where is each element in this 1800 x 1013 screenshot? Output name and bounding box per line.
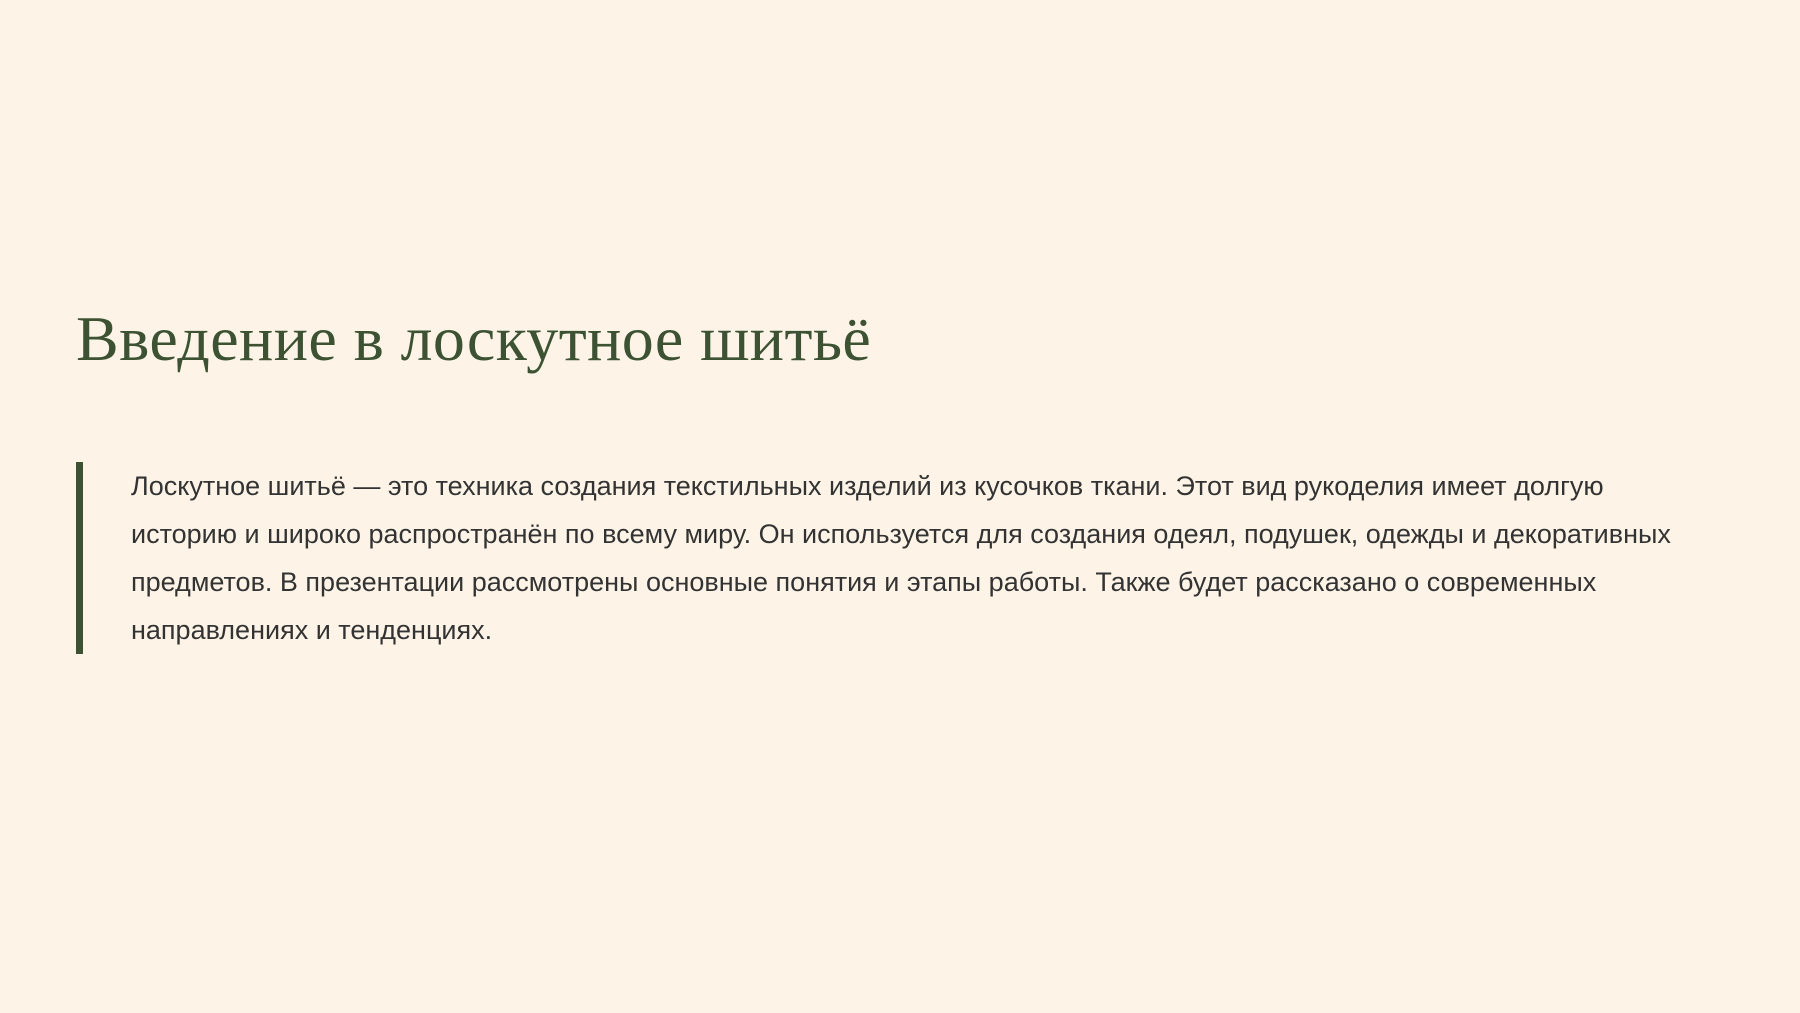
body-quote-block: Лоскутное шитьё — это техника создания т… <box>76 462 1716 654</box>
page-title: Введение в лоскутное шитьё <box>76 300 1716 378</box>
slide-canvas: Введение в лоскутное шитьё Лоскутное шит… <box>0 0 1800 1013</box>
body-paragraph: Лоскутное шитьё — это техника создания т… <box>83 462 1716 654</box>
left-accent-bar <box>76 462 83 654</box>
